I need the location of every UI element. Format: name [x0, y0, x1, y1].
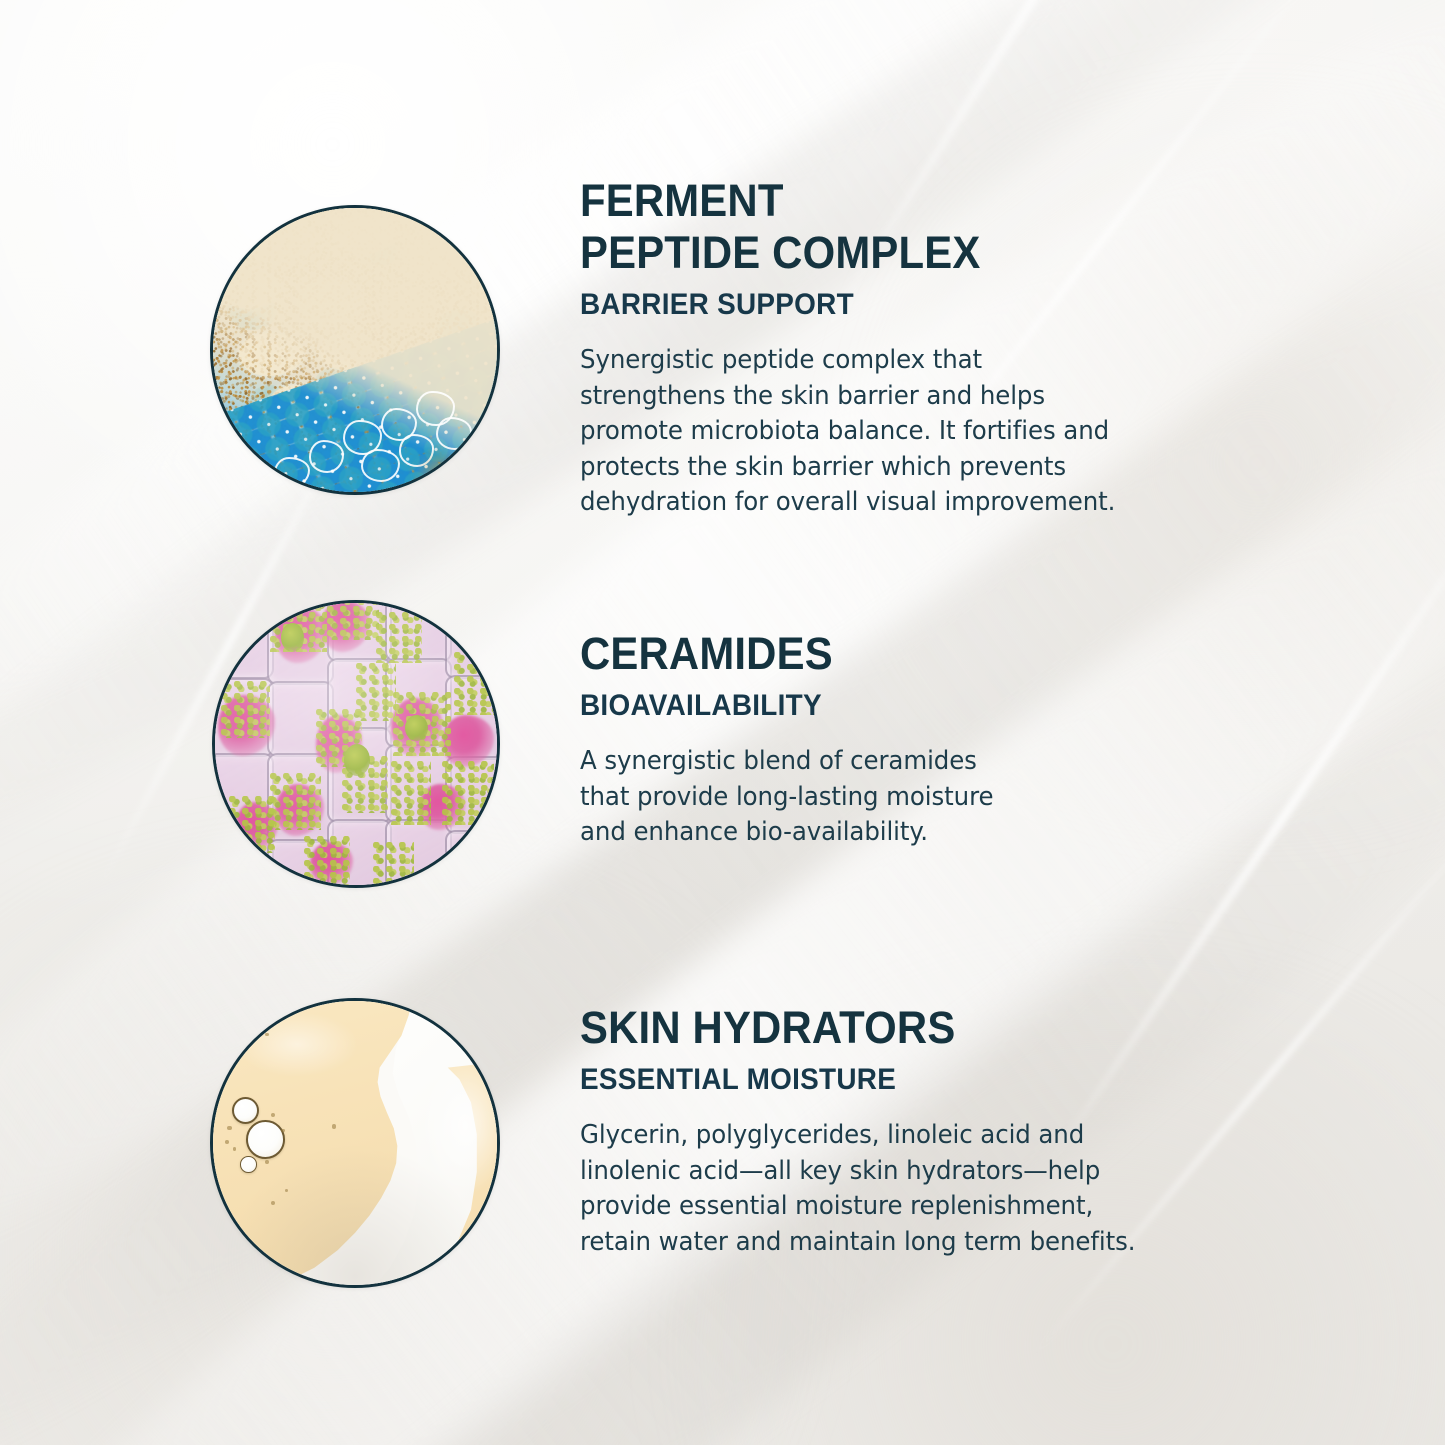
- oil-droplet-macro: [210, 998, 500, 1288]
- ceramides-light-veil: [212, 600, 500, 888]
- ceramides-text-block: CERAMIDES BIOAVAILABILITY A synergistic …: [580, 628, 1280, 851]
- hydrators-body-text: Glycerin, polyglycerides, linoleic acid …: [580, 1118, 1252, 1260]
- section-ferment-peptide-complex: FERMENT PEPTIDE COMPLEX BARRIER SUPPORT …: [0, 0, 1445, 560]
- ferment-amber-glow: [407, 457, 482, 492]
- ferment-body-text: Synergistic peptide complex that strengt…: [580, 343, 1252, 521]
- hydrators-bottom-shadow: [210, 998, 500, 1288]
- ingredient-benefits-panel: FERMENT PEPTIDE COMPLEX BARRIER SUPPORT …: [0, 0, 1445, 1445]
- ferment-honeycomb-cell-5: [361, 449, 400, 482]
- ceramides-title: CERAMIDES: [580, 628, 1231, 680]
- ferment-title: FERMENT PEPTIDE COMPLEX: [580, 175, 1231, 279]
- section-skin-hydrators: SKIN HYDRATORS ESSENTIAL MOISTURE Glycer…: [0, 980, 1445, 1445]
- ferment-microbiota-micrograph: [210, 205, 500, 495]
- section-ceramides: CERAMIDES BIOAVAILABILITY A synergistic …: [0, 560, 1445, 980]
- hydrators-text-block: SKIN HYDRATORS ESSENTIAL MOISTURE Glycer…: [580, 1002, 1280, 1260]
- hydrators-subtitle: ESSENTIAL MOISTURE: [580, 1062, 1231, 1098]
- plant-cell-micrograph: [212, 600, 500, 888]
- ferment-honeycomb-cell-7: [436, 417, 472, 450]
- ceramides-image-content: [212, 600, 500, 888]
- ceramides-subtitle: BIOAVAILABILITY: [580, 688, 1231, 724]
- ferment-text-block: FERMENT PEPTIDE COMPLEX BARRIER SUPPORT …: [580, 175, 1280, 521]
- ferment-subtitle: BARRIER SUPPORT: [580, 287, 1231, 323]
- hydrators-image-content: [210, 998, 500, 1288]
- ferment-image-content: [210, 205, 500, 495]
- hydrators-title: SKIN HYDRATORS: [580, 1002, 1231, 1054]
- ceramides-body-text: A synergistic blend of ceramides that pr…: [580, 744, 1252, 851]
